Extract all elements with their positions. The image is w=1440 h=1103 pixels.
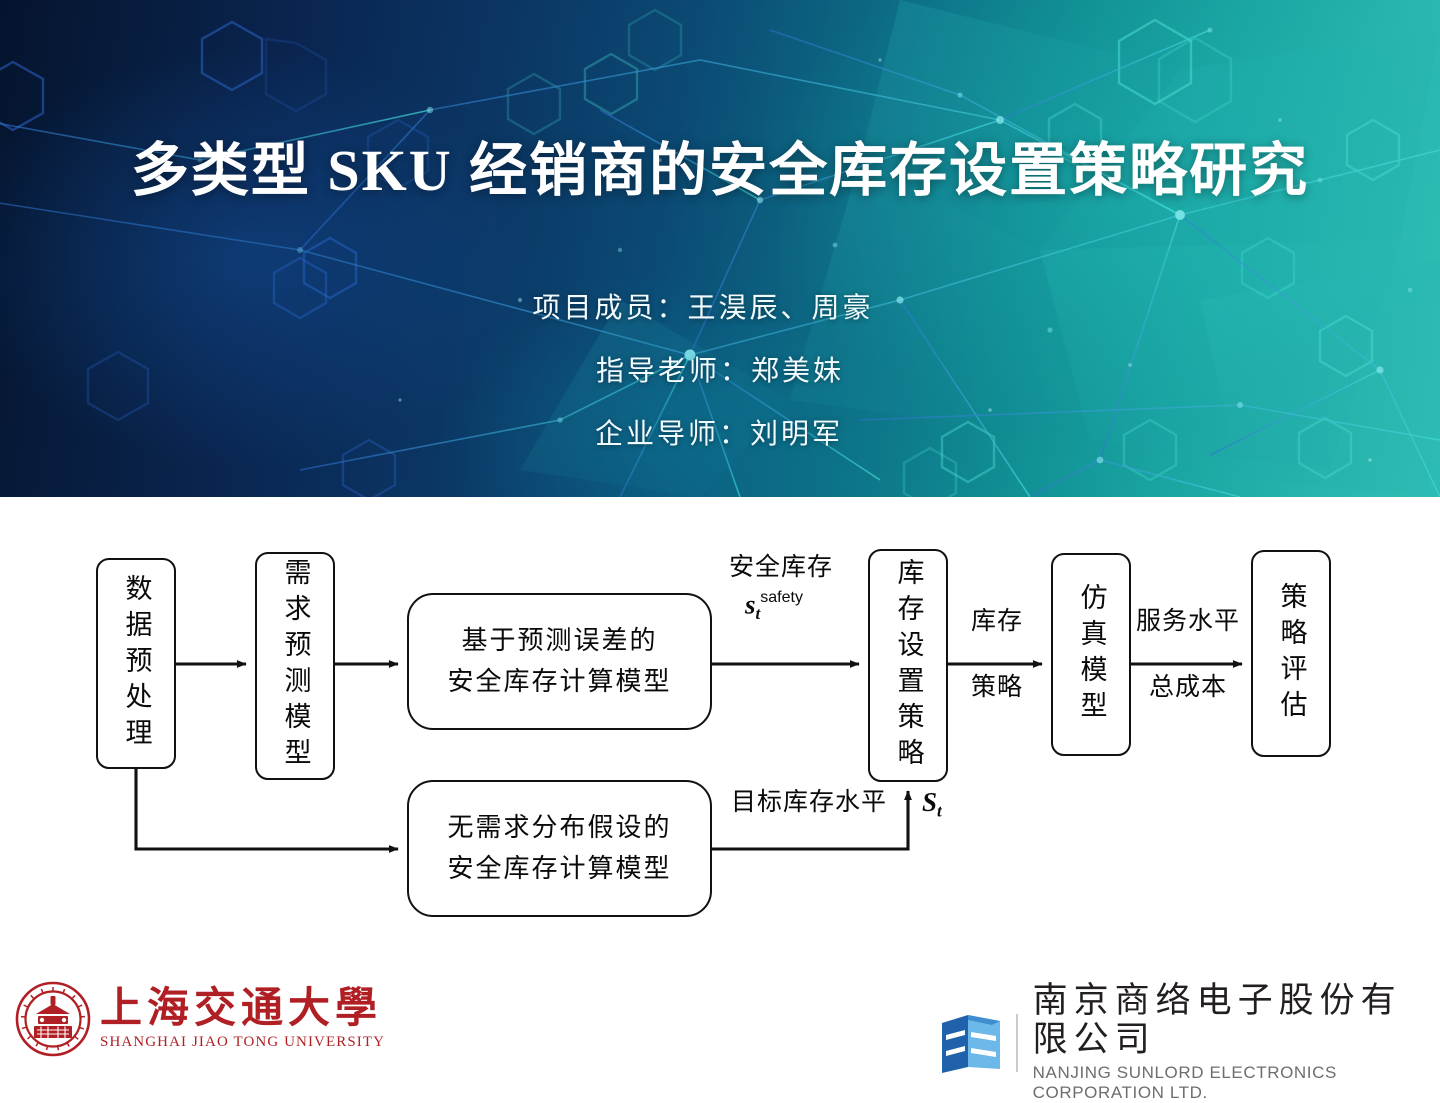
flow-node-distribution-free-model[interactable]: 无需求分布假设的 安全库存计算模型 — [407, 780, 712, 917]
sjtu-name-cn: 上海交通大學 — [100, 987, 385, 1031]
edge-label-line2: 策略 — [966, 673, 1028, 703]
flow-node-line1: 无需求分布假设的 — [447, 808, 671, 848]
flow-node-line2: 安全库存计算模型 — [447, 849, 671, 889]
flowchart-connectors — [0, 497, 1440, 960]
sunlord-wordmark: 南京商络电子股份有限公司 NANJING SUNLORD ELECTRONICS… — [1033, 982, 1440, 1103]
edge-label-line1: 库存 — [971, 608, 1023, 635]
credits-block: 项目成员：王淏辰、周豪 指导老师：郑美妹 企业导师：刘明军 — [0, 277, 1440, 466]
symbol-subscript-t: t — [937, 801, 942, 820]
edge-label-safety-stock-symbol: stsafety — [745, 589, 803, 624]
process-flowchart: 数据预处理 需求预测模型 基于预测误差的 安全库存计算模型 无需求分布假设的 安… — [0, 497, 1440, 960]
flow-node-line2: 安全库存计算模型 — [447, 662, 671, 702]
edge-label-line2: 总成本 — [1133, 673, 1243, 703]
credit-line-mentor: 企业导师：刘明军 — [0, 403, 1440, 466]
flow-node-simulation-model[interactable]: 仿真模型 — [1051, 553, 1131, 756]
edge-label-service-level-cost: 服务水平 总成本 — [1133, 607, 1243, 702]
flow-node-inventory-policy[interactable]: 库存设置策略 — [868, 549, 948, 782]
symbol-s-upper: S — [922, 787, 937, 817]
sunlord-name-cn: 南京商络电子股份有限公司 — [1033, 982, 1440, 1059]
symbol-superscript-safety: safety — [760, 589, 803, 606]
credit-line-advisor: 指导老师：郑美妹 — [0, 340, 1440, 403]
flow-node-demand-forecast-model[interactable]: 需求预测模型 — [255, 552, 335, 780]
credit-line-members: 项目成员：王淏辰、周豪 — [0, 277, 1440, 340]
edge-label-target-level-symbol: St — [922, 787, 942, 821]
symbol-subscript-t: t — [756, 604, 761, 623]
flow-node-line1: 基于预测误差的 — [461, 621, 657, 661]
sunlord-name-en: NANJING SUNLORD ELECTRONICS CORPORATION … — [1033, 1063, 1440, 1103]
edge-label-inventory-policy: 库存 策略 — [966, 607, 1028, 702]
sunlord-mark-icon — [938, 1011, 1004, 1075]
sjtu-name-en: SHANGHAI JIAO TONG UNIVERSITY — [100, 1034, 385, 1051]
footer-logos: 上海交通大學 SHANGHAI JIAO TONG UNIVERSITY 南京商… — [0, 960, 1440, 1080]
sjtu-seal-icon — [14, 980, 92, 1058]
symbol-s-lower: s — [745, 590, 756, 620]
flow-node-policy-evaluation[interactable]: 策略评估 — [1251, 550, 1331, 757]
page-title: 多类型 SKU 经销商的安全库存设置策略研究 — [0, 123, 1440, 207]
flow-node-forecast-error-model[interactable]: 基于预测误差的 安全库存计算模型 — [407, 593, 712, 730]
sjtu-wordmark: 上海交通大學 SHANGHAI JIAO TONG UNIVERSITY — [100, 987, 385, 1050]
edge-label-target-inventory-level: 目标库存水平 — [731, 788, 887, 818]
flow-node-data-preprocess[interactable]: 数据预处理 — [96, 558, 176, 769]
title-banner: 多类型 SKU 经销商的安全库存设置策略研究 项目成员：王淏辰、周豪 指导老师：… — [0, 0, 1440, 497]
edge-label-line1: 服务水平 — [1136, 608, 1240, 635]
sunlord-logo: 南京商络电子股份有限公司 NANJING SUNLORD ELECTRONICS… — [938, 982, 1440, 1103]
logo-divider — [1016, 1014, 1018, 1072]
edge-label-safety-stock: 安全库存 — [729, 553, 833, 583]
sjtu-logo: 上海交通大學 SHANGHAI JIAO TONG UNIVERSITY — [14, 980, 385, 1058]
